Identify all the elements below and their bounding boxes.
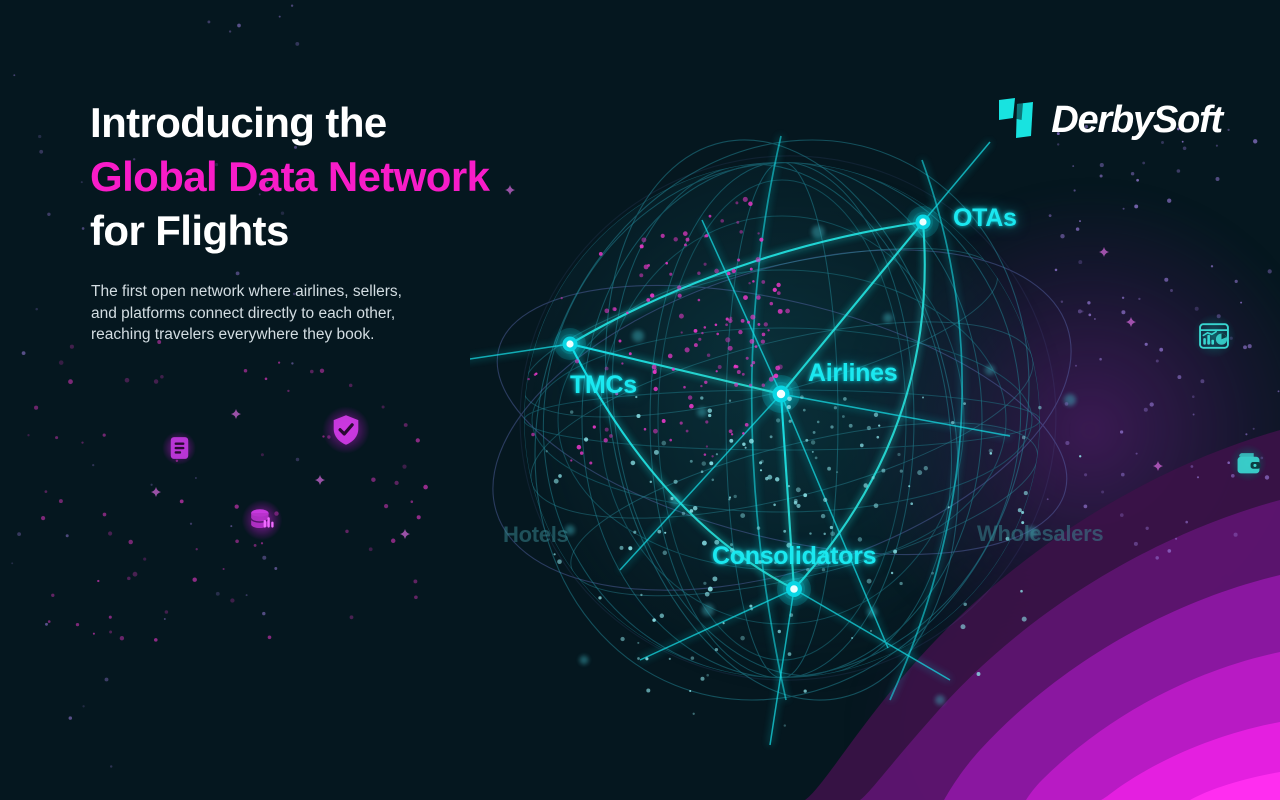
node-consolidators — [777, 572, 811, 606]
node-label-airlines[interactable]: Airlines — [808, 359, 897, 388]
network-links — [570, 222, 925, 589]
node-label-hotels: Hotels — [503, 522, 568, 548]
node-otas — [907, 206, 939, 238]
wallet-icon — [1226, 441, 1270, 485]
subtitle-line-3: reaching travelers everywhere they book. — [91, 324, 541, 346]
node-label-wholesalers: Wholesalers — [977, 521, 1103, 547]
subtitle-paragraph: The first open network where airlines, s… — [91, 281, 541, 346]
headline-line-2: Global Data Network — [90, 150, 610, 204]
node-airlines — [762, 375, 800, 413]
node-label-otas[interactable]: OTAs — [953, 204, 1017, 233]
headline-line-3: for Flights — [90, 204, 610, 258]
globe-minor-nodes — [565, 226, 1076, 706]
node-tmcs — [554, 328, 586, 360]
headline-line-1: Introducing the — [90, 96, 610, 150]
node-label-tmcs[interactable]: TMCs — [570, 371, 637, 400]
document-list-icon — [159, 428, 199, 468]
link-tmcs-otas — [570, 222, 923, 344]
derbysoft-logo[interactable]: DerbySoft — [997, 96, 1222, 145]
magenta-particles — [27, 197, 790, 642]
node-label-consolidators[interactable]: Consolidators — [712, 542, 876, 571]
derbysoft-wordmark: DerbySoft — [1051, 99, 1222, 142]
link-otas-consolidators — [794, 222, 925, 589]
subtitle-line-2: and platforms connect directly to each o… — [91, 303, 541, 325]
dashboard-chart-icon — [1188, 310, 1240, 362]
subtitle-line-1: The first open network where airlines, s… — [91, 281, 541, 303]
page-title: Introducing the Global Data Network for … — [90, 96, 610, 258]
magenta-glow-backdrop — [820, 520, 1280, 800]
purple-glow-backdrop — [780, 120, 1280, 740]
database-chart-icon — [238, 496, 286, 544]
slide-canvas: OTAs TMCs Airlines Consolidators Hotels … — [0, 0, 1280, 800]
derbysoft-logo-mark — [997, 96, 1037, 145]
shield-check-icon — [318, 402, 374, 458]
